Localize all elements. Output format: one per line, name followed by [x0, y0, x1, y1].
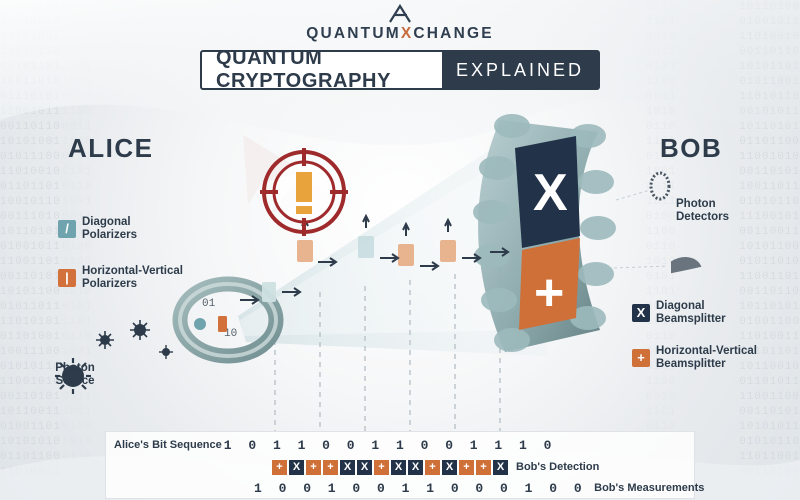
legend-hv-polarizers-line1: Horizontal-Vertical: [82, 265, 183, 278]
binary-texture-left: 01001101 10110010 01101001 11010110 0010…: [0, 0, 90, 500]
legend-diagonal-beamsplitter-text: Diagonal Beamsplitter: [656, 300, 726, 325]
legend-photon-source-line1: Photon: [55, 362, 95, 374]
title-main: QUANTUM CRYPTOGRAPHY: [202, 52, 442, 88]
legend-hv-beamsplitter-line1: Horizontal-Vertical: [656, 345, 757, 358]
brand-name-x: X: [401, 25, 414, 42]
legend-photon-source-line2: Source: [56, 375, 95, 387]
legend-diagonal-beamsplitter-line1: Diagonal: [656, 300, 726, 313]
legend-hv-polarizers-line2: Polarizers: [82, 278, 183, 291]
legend-hv-polarizers: | Horizontal-Vertical Polarizers: [58, 265, 183, 290]
horizontal-vertical-polarizer-icon: |: [58, 269, 76, 287]
bob-detection-icons: + X + + X X + X X + X + + X: [272, 460, 508, 475]
legend-diagonal-polarizers: / Diagonal Polarizers: [58, 216, 137, 241]
alice-bit-sequence-value: 1 0 1 1 0 0 1 1 0 0 1 1 1 0: [224, 438, 556, 453]
alice-bit-sequence-label: Alice's Bit Sequence: [114, 439, 222, 451]
row-bob-detection: + X + + X X + X X + X + + X Bob's Detect…: [272, 456, 694, 478]
bob-measurements-label: Bob's Measurements: [594, 482, 704, 494]
legend-diagonal-polarizers-line2: Polarizers: [82, 229, 137, 242]
row-bob-measurements: 1 0 0 1 0 0 1 1 0 0 0 1 0 0 Bob's Measur…: [254, 477, 694, 499]
detection-icon-diag-2: X: [340, 460, 355, 475]
legend-diagonal-beamsplitter-line2: Beamsplitter: [656, 313, 726, 326]
infographic-canvas: 01001101 10110010 01101001 11010110 0010…: [0, 0, 800, 500]
legend-hv-beamsplitter-line2: Beamsplitter: [656, 358, 757, 371]
svg-text:10: 10: [224, 328, 237, 340]
inline-polarizers: [240, 216, 508, 304]
brand-header: QUANTUMXCHANGE: [0, 4, 800, 43]
brand-name: QUANTUMXCHANGE: [306, 25, 494, 42]
photon-beam-cone: [238, 128, 548, 356]
quantum-x-logo-icon: [387, 4, 413, 24]
detection-icon-hv-1: +: [272, 460, 287, 475]
alice-photon-ring: 01 10: [180, 284, 276, 356]
row-alice-bit-sequence: Alice's Bit Sequence 1 0 1 1 0 0 1 1 0 0…: [114, 434, 694, 456]
brand-name-part2: CHANGE: [413, 25, 493, 42]
brand-name-part1: QUANTUM: [306, 25, 401, 42]
legend-photon-source-text: Photon Source: [42, 362, 108, 387]
legend-photon-detectors-line2: Detectors: [676, 211, 729, 224]
binary-texture-right: 10110100 01001011 11010010 00110110 1010…: [710, 0, 800, 500]
detection-icon-hv-5: +: [425, 460, 440, 475]
legend-hv-beamsplitter: + Horizontal-Vertical Beamsplitter: [632, 345, 757, 370]
detection-icon-diag-3: X: [357, 460, 372, 475]
bob-detection-label: Bob's Detection: [516, 461, 599, 473]
svg-text:01: 01: [202, 298, 216, 310]
diagonal-beamsplitter-icon: X: [632, 304, 650, 322]
horizontal-vertical-beamsplitter-icon: +: [632, 349, 650, 367]
legend-photon-detectors: Photon Detectors: [676, 198, 729, 223]
detection-icon-diag-5: X: [408, 460, 423, 475]
detection-icon-diag-7: X: [493, 460, 508, 475]
bit-sequence-panel: Alice's Bit Sequence 1 0 1 1 0 0 1 1 0 0…: [105, 431, 695, 499]
legend-photon-detectors-text: Photon Detectors: [676, 198, 729, 223]
detection-icon-hv-3: +: [323, 460, 338, 475]
legend-photon-source: Photon Source: [42, 358, 162, 387]
drop-lines: [275, 268, 500, 432]
legend-diagonal-polarizers-line1: Diagonal: [82, 216, 137, 229]
label-alice: ALICE: [68, 133, 154, 164]
legend-photon-detectors-line1: Photon: [676, 198, 729, 211]
legend-hv-polarizers-text: Horizontal-Vertical Polarizers: [82, 265, 183, 290]
photon-particles: [96, 320, 173, 359]
binary-texture-right-2: 0110 1101 0010 1011 0101 1100 0011 1010 …: [646, 0, 736, 500]
detection-icon-diag-1: X: [289, 460, 304, 475]
label-bob: BOB: [660, 133, 722, 164]
binary-texture-left-2: 1101 0110 1011 0010 1101 1001 0111 1100 …: [62, 0, 152, 500]
title-bar: QUANTUM CRYPTOGRAPHY EXPLAINED: [200, 50, 600, 90]
title-tag: EXPLAINED: [442, 52, 598, 88]
legend-diagonal-beamsplitter: X Diagonal Beamsplitter: [632, 300, 726, 325]
svg-text:+: +: [534, 264, 564, 322]
detection-icon-hv-2: +: [306, 460, 321, 475]
bob-measurements-value: 1 0 0 1 0 0 1 1 0 0 0 1 0 0: [254, 481, 586, 496]
detection-icon-hv-6: +: [459, 460, 474, 475]
svg-text:X: X: [533, 164, 568, 222]
paper-plane-decoration: [243, 135, 333, 214]
detection-icon-diag-6: X: [442, 460, 457, 475]
detection-icon-hv-4: +: [374, 460, 389, 475]
bob-detector-stack: X +: [473, 114, 616, 352]
legend-hv-beamsplitter-text: Horizontal-Vertical Beamsplitter: [656, 345, 757, 370]
diagonal-polarizer-icon: /: [58, 220, 76, 238]
detection-icon-hv-7: +: [476, 460, 491, 475]
legend-diagonal-polarizers-text: Diagonal Polarizers: [82, 216, 137, 241]
detection-icon-diag-4: X: [391, 460, 406, 475]
intrusion-warning-target: [260, 148, 348, 236]
